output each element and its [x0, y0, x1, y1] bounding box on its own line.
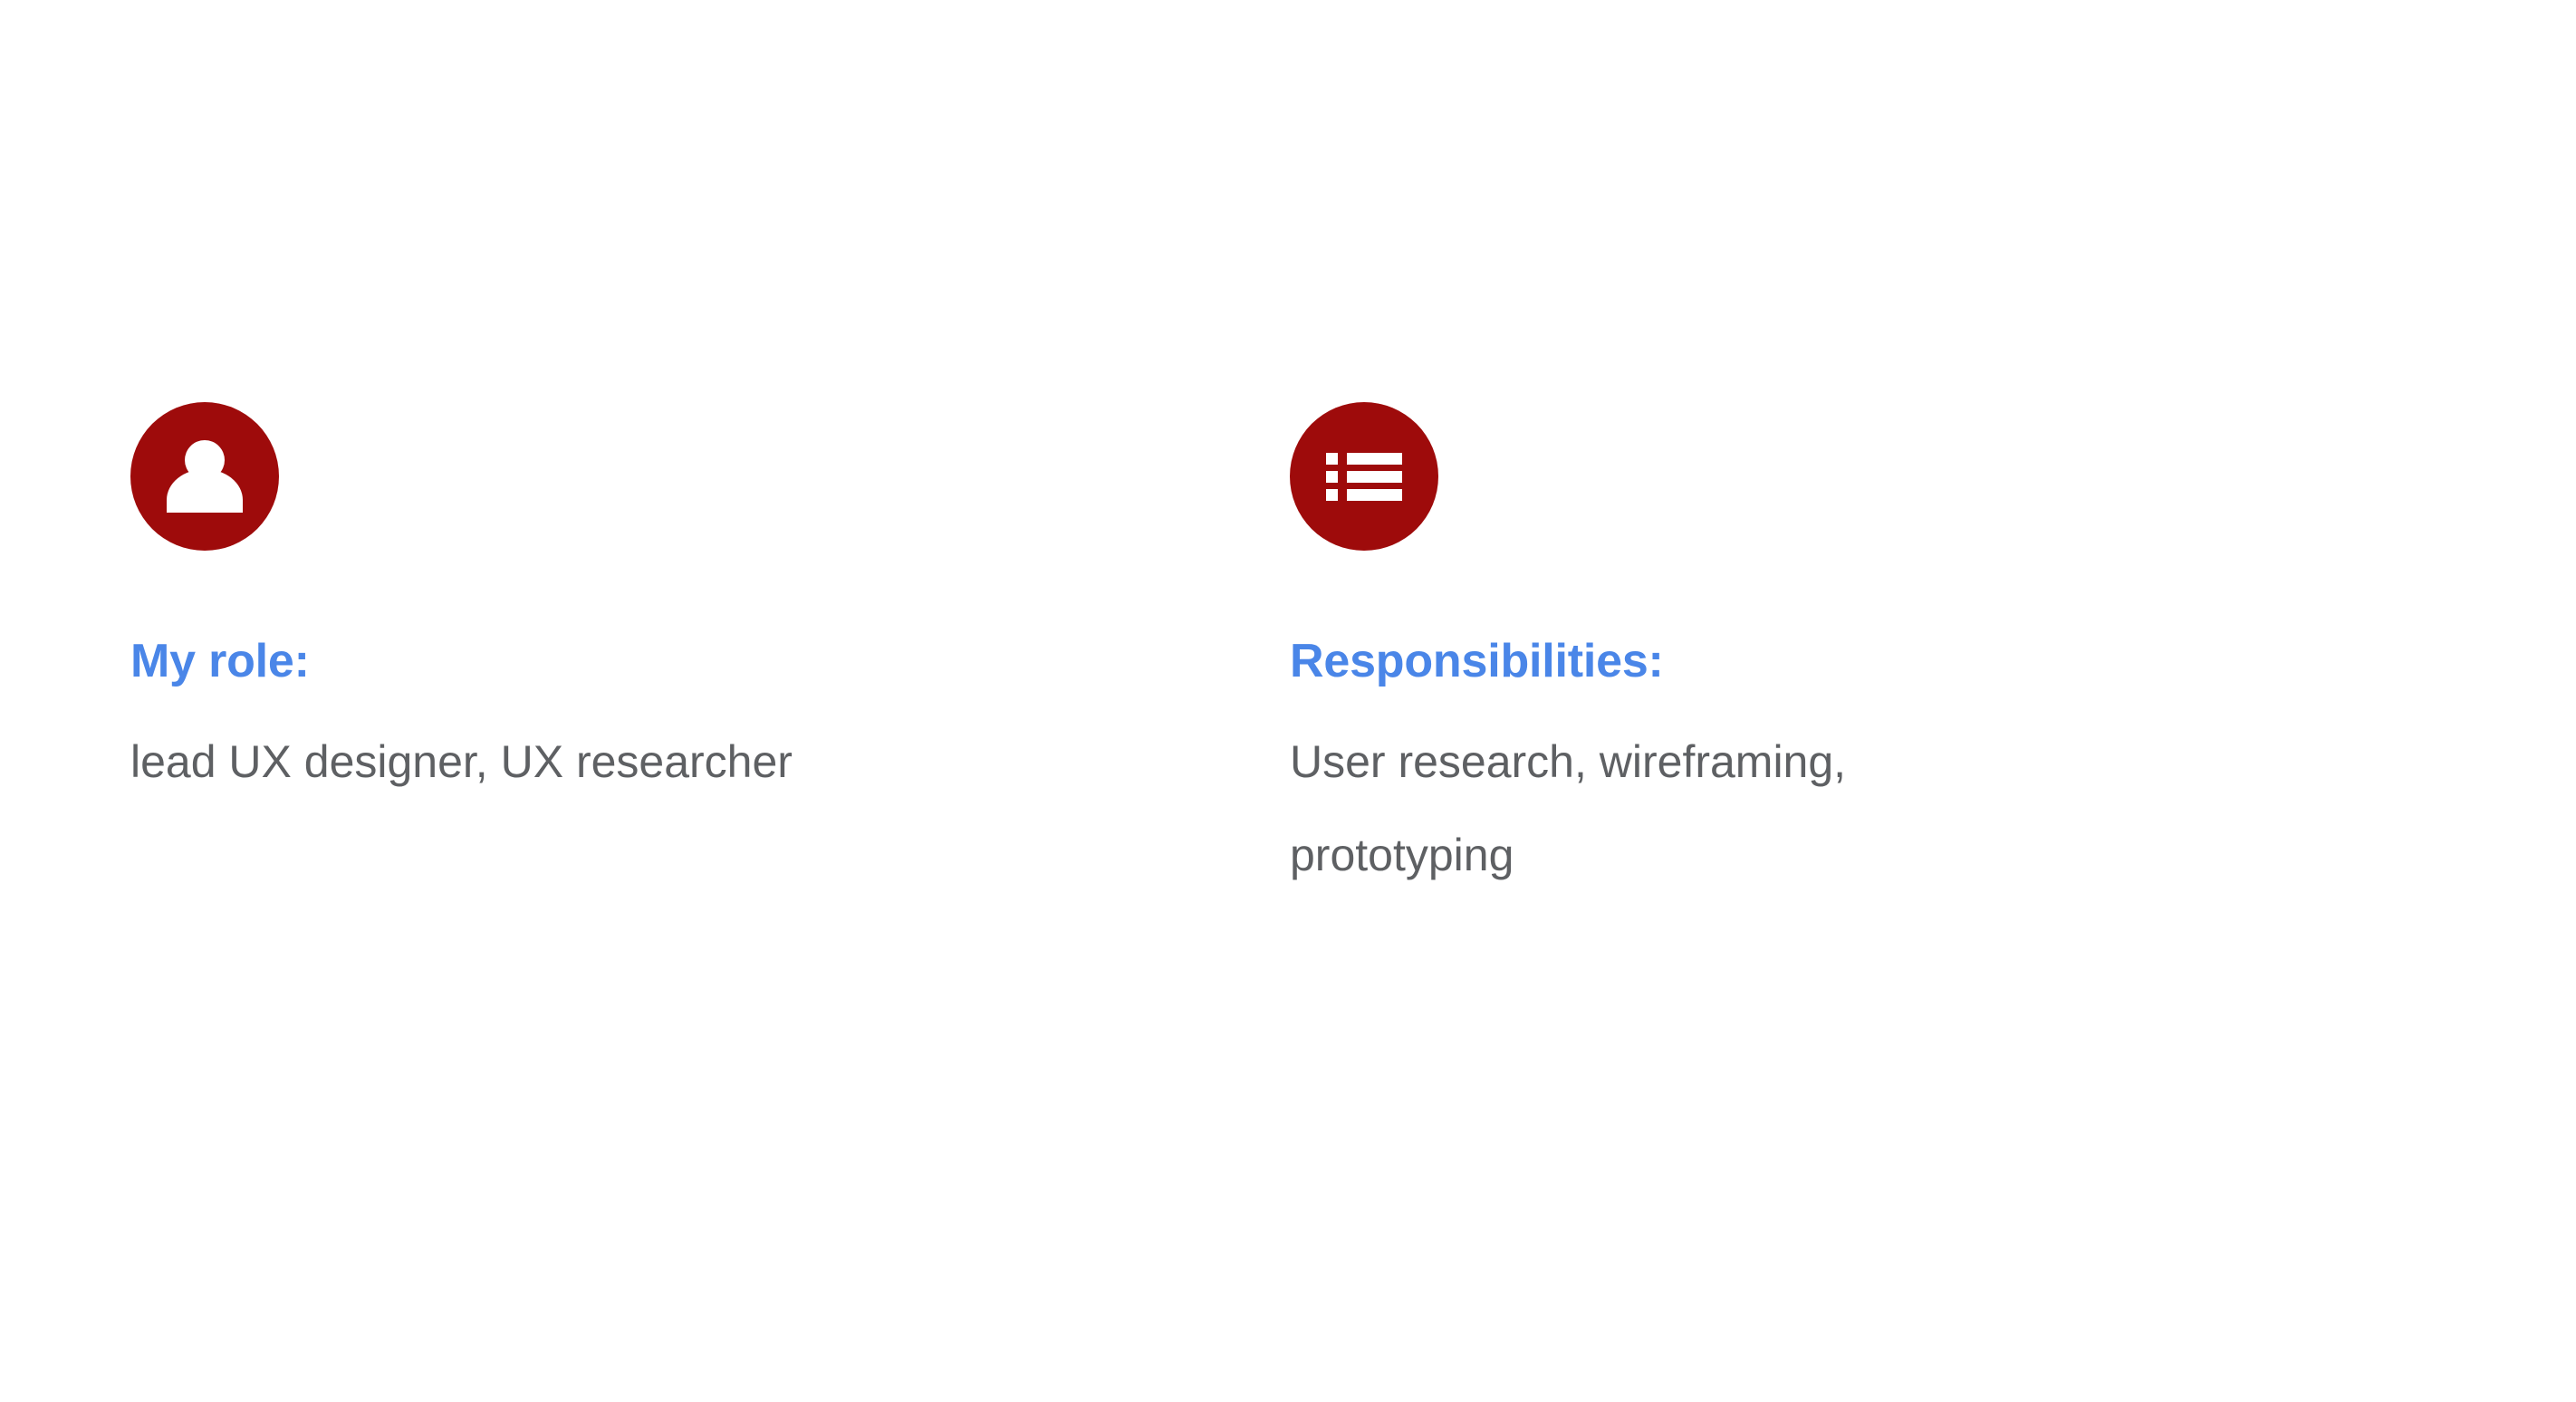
responsibilities-body: User research, wireframing, prototyping [1290, 715, 1965, 902]
person-icon [158, 429, 252, 523]
column-my-role: My role: lead UX designer, UX researcher [130, 402, 1290, 809]
my-role-heading: My role: [130, 638, 819, 685]
content-columns: My role: lead UX designer, UX researcher [130, 402, 2485, 902]
my-role-text-block: My role: lead UX designer, UX researcher [130, 638, 819, 809]
responsibilities-text-block: Responsibilities: User research, wirefra… [1290, 638, 1978, 902]
list-icon [1317, 429, 1411, 523]
my-role-body: lead UX designer, UX researcher [130, 715, 805, 809]
responsibilities-heading: Responsibilities: [1290, 638, 1978, 685]
list-icon-badge [1290, 402, 1438, 551]
person-icon-badge [130, 402, 279, 551]
slide-canvas: My role: lead UX designer, UX researcher [0, 0, 2576, 1402]
column-responsibilities: Responsibilities: User research, wirefra… [1290, 402, 2449, 902]
